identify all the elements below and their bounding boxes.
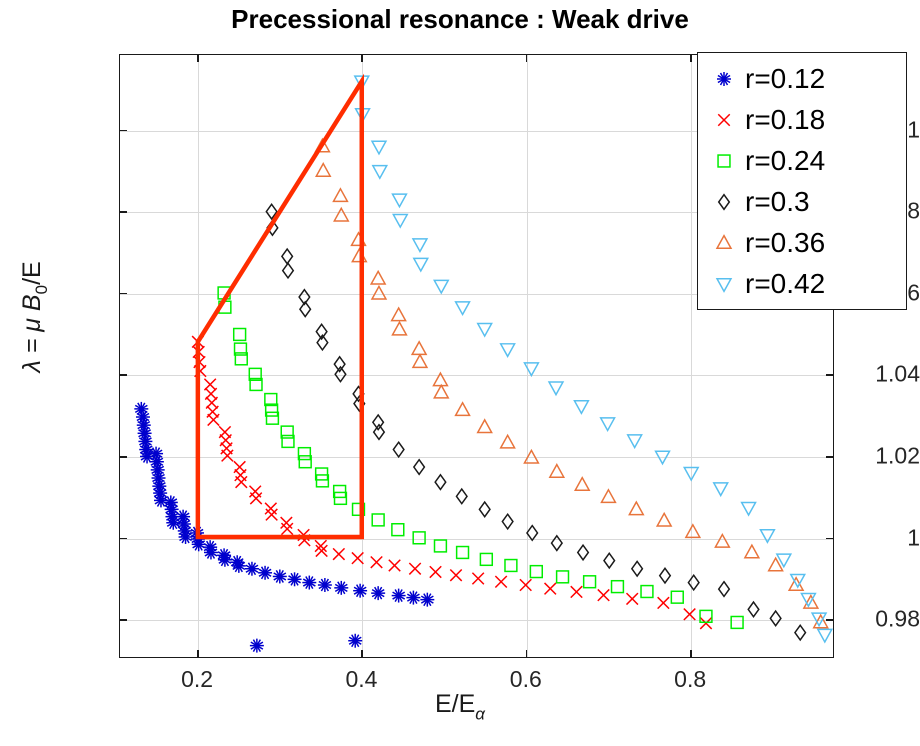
x-tick-mark bbox=[197, 54, 199, 62]
y-tick-mark bbox=[119, 619, 127, 621]
y-tick-label: 1.04 bbox=[815, 361, 920, 388]
x-axis-title: E/Eα bbox=[0, 690, 920, 725]
legend-item-r-0-3[interactable]: r=0.3 bbox=[698, 181, 906, 222]
x-tick-mark bbox=[197, 650, 199, 658]
x-tick-mark bbox=[526, 650, 528, 658]
x-tick-label: 0.4 bbox=[345, 666, 377, 693]
chart-title: Precessional resonance : Weak drive bbox=[0, 4, 920, 35]
triangle-down-icon bbox=[707, 267, 741, 301]
x-tick-mark bbox=[690, 54, 692, 62]
data-point-triangle-down bbox=[717, 278, 731, 291]
legend[interactable]: r=0.12r=0.18r=0.24r=0.3r=0.36r=0.42 bbox=[697, 52, 907, 310]
y-tick-mark bbox=[119, 293, 127, 295]
data-point-asterisk bbox=[717, 72, 731, 86]
y-tick-label: 1 bbox=[815, 524, 920, 551]
y-tick-label: 1.02 bbox=[815, 442, 920, 469]
square-icon bbox=[707, 144, 741, 178]
legend-item-r-0-18[interactable]: r=0.18 bbox=[698, 99, 906, 140]
data-point-diamond bbox=[719, 194, 730, 209]
asterisk-icon bbox=[707, 62, 741, 96]
y-axis-title-tail: /E bbox=[18, 261, 46, 285]
legend-label: r=0.12 bbox=[745, 65, 825, 93]
legend-label: r=0.24 bbox=[745, 147, 825, 175]
y-axis-title-subscript: 0 bbox=[32, 285, 51, 294]
diamond-icon bbox=[707, 185, 741, 219]
x-tick-mark bbox=[361, 650, 363, 658]
legend-label: r=0.18 bbox=[745, 106, 825, 134]
data-point-x bbox=[718, 114, 729, 125]
y-tick-mark bbox=[119, 538, 127, 540]
data-point-square bbox=[718, 155, 730, 167]
y-tick-mark bbox=[119, 130, 127, 132]
x-tick-label: 0.8 bbox=[674, 666, 706, 693]
triangle-up-icon bbox=[707, 226, 741, 260]
y-tick-mark bbox=[119, 456, 127, 458]
chart-canvas: Precessional resonance : Weak drive 1.11… bbox=[0, 0, 920, 746]
legend-label: r=0.3 bbox=[745, 188, 810, 216]
legend-item-r-0-42[interactable]: r=0.42 bbox=[698, 263, 906, 304]
y-tick-mark bbox=[119, 211, 127, 213]
y-tick-mark bbox=[119, 374, 127, 376]
x-tick-mark bbox=[690, 650, 692, 658]
x-tick-mark bbox=[361, 54, 363, 62]
x-axis-title-subscript: α bbox=[475, 705, 485, 724]
y-axis-title-main: λ = μ B bbox=[18, 294, 46, 372]
y-axis-title: λ = μ B0/E bbox=[18, 7, 52, 627]
x-tick-label: 0.2 bbox=[181, 666, 213, 693]
data-point-triangle-up bbox=[717, 235, 731, 248]
x-icon bbox=[707, 103, 741, 137]
legend-item-r-0-24[interactable]: r=0.24 bbox=[698, 140, 906, 181]
legend-item-r-0-12[interactable]: r=0.12 bbox=[698, 58, 906, 99]
x-axis-title-main: E/E bbox=[435, 690, 475, 718]
legend-label: r=0.36 bbox=[745, 229, 825, 257]
legend-item-r-0-36[interactable]: r=0.36 bbox=[698, 222, 906, 263]
legend-label: r=0.42 bbox=[745, 270, 825, 298]
x-tick-mark bbox=[526, 54, 528, 62]
y-tick-label: 0.98 bbox=[815, 606, 920, 633]
x-tick-label: 0.6 bbox=[510, 666, 542, 693]
resonance-region-polygon bbox=[198, 81, 362, 537]
